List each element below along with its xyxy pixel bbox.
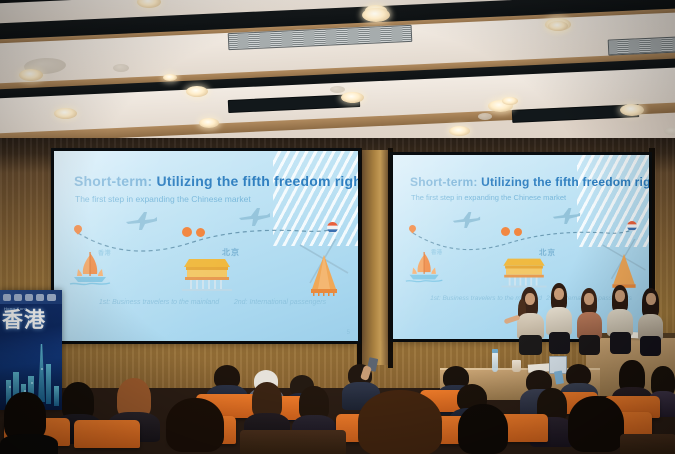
forbidden-city-gate-icon bbox=[496, 255, 552, 291]
dutch-windmill-icon bbox=[296, 239, 352, 297]
auditorium-seat bbox=[620, 434, 675, 454]
netherlands-flag-icon bbox=[327, 222, 338, 233]
presenter bbox=[607, 285, 635, 353]
auditorium-seat bbox=[240, 430, 346, 454]
slide-caption-right: 2nd: International passengers bbox=[230, 299, 330, 308]
downlight-icon bbox=[19, 69, 43, 81]
airplane-icon bbox=[451, 211, 481, 229]
air-vent-icon bbox=[608, 36, 675, 55]
hong-kong-label: 香港 bbox=[431, 251, 442, 257]
route-dot-icon bbox=[501, 227, 510, 236]
downlight-icon bbox=[186, 86, 208, 97]
audience-member-foreground bbox=[160, 398, 236, 454]
beijing-label: 北京 bbox=[222, 249, 240, 257]
presenter bbox=[576, 288, 604, 354]
downlight-icon bbox=[199, 118, 219, 128]
slide-page-number: 5 bbox=[347, 330, 350, 336]
downlight-icon bbox=[54, 108, 77, 119]
audience-member-foreground bbox=[354, 390, 450, 454]
audience-member-foreground bbox=[0, 392, 58, 454]
presenter bbox=[637, 288, 665, 354]
airplane-icon bbox=[237, 207, 271, 227]
slide-caption-left: 1st: Business travelers to the mainland bbox=[94, 299, 224, 308]
audience-member-foreground bbox=[454, 404, 514, 454]
wall-column bbox=[362, 150, 388, 365]
downlight-icon bbox=[620, 104, 644, 116]
hong-kong-label: 香港 bbox=[98, 251, 111, 257]
bottle-cap bbox=[492, 349, 498, 353]
presenter bbox=[546, 283, 574, 353]
downlight-icon bbox=[341, 92, 364, 103]
airplane-icon bbox=[551, 207, 581, 225]
airplane-icon bbox=[124, 211, 158, 231]
banner-logo-strip bbox=[0, 290, 62, 304]
presenter bbox=[516, 287, 546, 353]
smartphone-icon bbox=[554, 370, 564, 384]
forbidden-city-gate-icon bbox=[176, 255, 238, 295]
route-dot-icon bbox=[196, 228, 205, 237]
ceiling bbox=[0, 0, 675, 150]
ceiling-speaker-icon bbox=[113, 64, 129, 72]
downlight-icon bbox=[502, 97, 518, 105]
downlight-icon bbox=[362, 8, 390, 22]
downlight-icon bbox=[664, 127, 675, 135]
presentation-slide-left: Short-term: Utilizing the fifth freedom … bbox=[54, 151, 358, 341]
netherlands-flag-icon bbox=[627, 221, 637, 231]
auditorium-seat bbox=[74, 420, 140, 448]
left-projection-screen: Short-term: Utilizing the fifth freedom … bbox=[54, 151, 358, 341]
beijing-label: 北京 bbox=[539, 249, 556, 257]
downlight-icon bbox=[163, 74, 177, 81]
ceiling-speaker-icon bbox=[478, 113, 492, 120]
ceiling-speaker-icon bbox=[330, 86, 345, 93]
banner-title: 香港 bbox=[2, 310, 46, 331]
route-dot-icon bbox=[514, 228, 522, 236]
downlight-icon bbox=[548, 21, 568, 31]
downlight-icon bbox=[449, 126, 470, 136]
lecture-hall-screenshot: Short-term: Utilizing the fifth freedom … bbox=[0, 0, 675, 454]
route-dot-icon bbox=[182, 227, 192, 237]
